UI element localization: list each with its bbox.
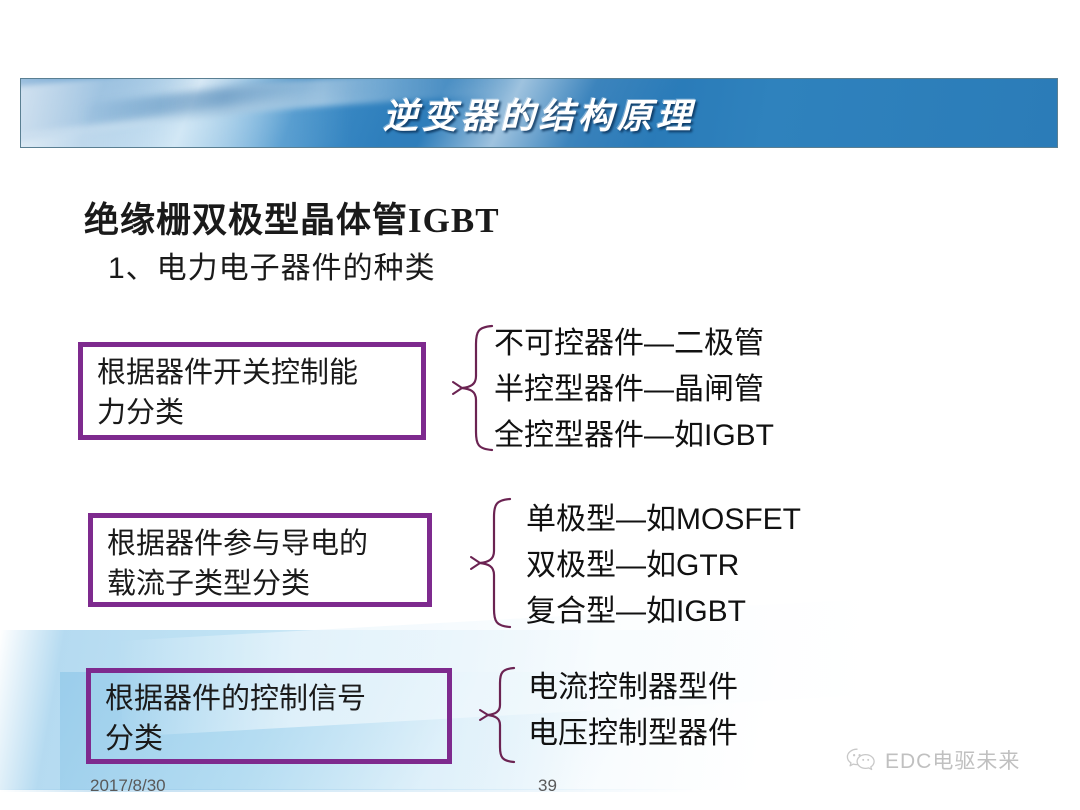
watermark: EDC电驱未来 [846, 745, 1020, 775]
category-box-3-line-2: 分类 [105, 719, 435, 759]
heading-main: 绝缘栅双极型晶体管IGBT [84, 192, 500, 243]
category-box-1: 根据器件开关控制能 力分类 [78, 342, 426, 440]
title-banner: 逆变器的结构原理 [20, 78, 1058, 148]
slide-canvas: 逆变器的结构原理 绝缘栅双极型晶体管IGBT 1、电力电子器件的种类 根据器件开… [0, 0, 1080, 810]
category-box-3-line-1: 根据器件的控制信号 [105, 679, 435, 719]
category-box-1-line-1: 根据器件开关控制能 [97, 353, 409, 393]
category-box-2: 根据器件参与导电的 载流子类型分类 [88, 513, 432, 607]
category-box-2-line-1: 根据器件参与导电的 [107, 524, 415, 564]
watermark-label: EDC电驱未来 [885, 745, 1020, 775]
list-item: 不可控器件—二极管 [494, 321, 774, 367]
list-item: 复合型—如IGBT [526, 589, 801, 635]
items-list-1: 不可控器件—二极管 半控型器件—晶闸管 全控型器件—如IGBT [494, 321, 774, 459]
curly-brace-1 [452, 322, 496, 454]
items-list-3: 电流控制器型件 电压控制型器件 [528, 665, 738, 757]
curly-brace-3 [478, 665, 518, 765]
wechat-icon [846, 747, 876, 773]
list-item: 全控型器件—如IGBT [494, 413, 774, 459]
category-box-3: 根据器件的控制信号 分类 [86, 668, 452, 764]
slide-title: 逆变器的结构原理 [383, 88, 695, 139]
heading-sub: 1、电力电子器件的种类 [108, 243, 436, 287]
curly-brace-2 [470, 495, 514, 631]
list-item: 双极型—如GTR [526, 543, 801, 589]
list-item: 单极型—如MOSFET [526, 497, 801, 543]
category-box-1-line-2: 力分类 [97, 393, 409, 433]
items-list-2: 单极型—如MOSFET 双极型—如GTR 复合型—如IGBT [526, 497, 801, 635]
list-item: 电流控制器型件 [528, 665, 738, 711]
footer-date: 2017/8/30 [90, 776, 166, 796]
footer-page-number: 39 [538, 776, 557, 796]
list-item: 电压控制型器件 [528, 711, 738, 757]
list-item: 半控型器件—晶闸管 [494, 367, 774, 413]
category-box-2-line-2: 载流子类型分类 [107, 564, 415, 604]
